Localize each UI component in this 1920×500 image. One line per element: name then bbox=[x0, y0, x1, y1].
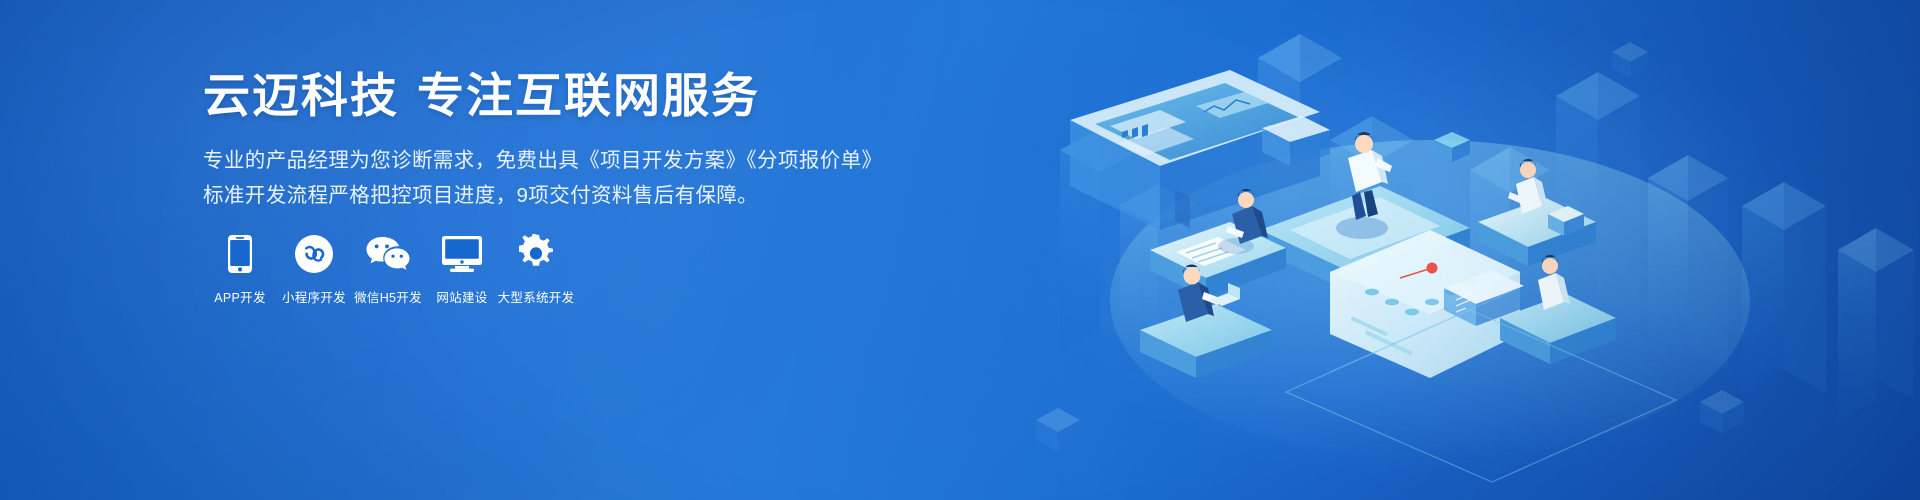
service-item-website[interactable]: 网站建设 bbox=[425, 232, 499, 306]
hero-banner: 云迈科技专注互联网服务 专业的产品经理为您诊断需求，免费出具《项目开发方案》《分… bbox=[0, 0, 1920, 500]
service-label-large-system: 大型系统开发 bbox=[498, 287, 575, 306]
mini-program-icon bbox=[295, 232, 333, 276]
gear-icon bbox=[516, 232, 556, 276]
isometric-illustration bbox=[1000, 0, 1920, 500]
subtitle-line-2: 标准开发流程严格把控项目进度，9项交付资料售后有保障。 bbox=[203, 179, 963, 212]
hero-content: 云迈科技专注互联网服务 专业的产品经理为您诊断需求，免费出具《项目开发方案》《分… bbox=[203, 68, 963, 214]
headline-tagline: 专注互联网服务 bbox=[417, 69, 760, 122]
service-item-large-system[interactable]: 大型系统开发 bbox=[499, 232, 573, 306]
service-item-app[interactable]: APP开发 bbox=[203, 232, 277, 306]
subtitle-line-1: 专业的产品经理为您诊断需求，免费出具《项目开发方案》《分项报价单》 bbox=[203, 144, 963, 177]
service-label-wechat-h5: 微信H5开发 bbox=[354, 287, 422, 306]
service-label-website: 网站建设 bbox=[436, 287, 487, 306]
service-item-miniprogram[interactable]: 小程序开发 bbox=[277, 232, 351, 306]
monitor-icon bbox=[441, 232, 483, 276]
headline-brand: 云迈科技 bbox=[203, 69, 399, 122]
service-label-miniprogram: 小程序开发 bbox=[282, 287, 346, 306]
service-item-wechat-h5[interactable]: 微信H5开发 bbox=[351, 232, 425, 306]
hero-subtitle: 专业的产品经理为您诊断需求，免费出具《项目开发方案》《分项报价单》 标准开发流程… bbox=[203, 144, 963, 212]
service-label-app: APP开发 bbox=[214, 287, 266, 306]
mobile-phone-icon bbox=[227, 232, 253, 276]
page-title: 云迈科技专注互联网服务 bbox=[203, 68, 963, 124]
wechat-icon bbox=[366, 232, 410, 276]
service-list: APP开发 小程序开发 bbox=[203, 232, 573, 306]
